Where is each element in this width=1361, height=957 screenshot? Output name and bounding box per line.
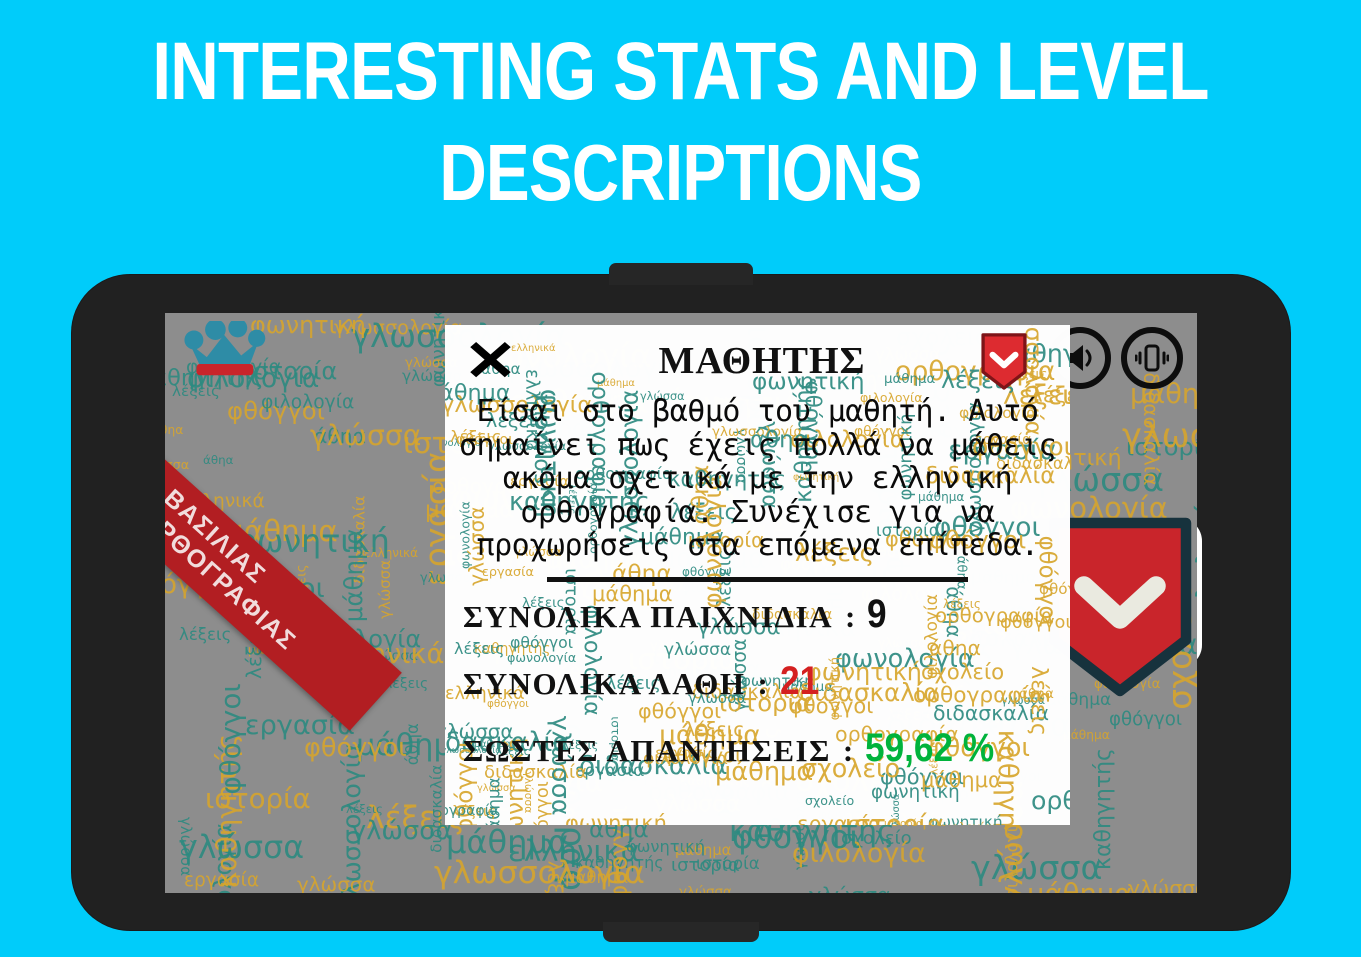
stat-row: ΣΥΝΟΛΙΚΑ ΛΑΘΗ:21 — [463, 659, 1052, 704]
word-cloud-word: άθηα — [165, 424, 183, 436]
word-cloud-word: φωνητική — [565, 813, 667, 825]
stat-label: ΣΥΝΟΛΙΚΑ ΛΑΘΗ — [463, 666, 746, 702]
dialog-description-line: ακόμα σχετικά με την ελληνική — [459, 462, 1056, 496]
word-cloud-word: λέξεις — [544, 861, 564, 893]
stat-colon: : — [758, 666, 768, 702]
word-cloud-word: λέξεις — [179, 627, 231, 644]
word-cloud-word: ιστορία — [671, 857, 740, 875]
word-cloud-word: γλωσσολογία — [434, 858, 645, 890]
phone-mockup: γλώσσαορθογραφίαγλώσσαάθηαιστορίαφωνητικ… — [72, 275, 1290, 930]
word-cloud-word: μάθημα — [1063, 729, 1110, 741]
header-title-line-1: INTERESTING STATS AND LEVEL — [122, 26, 1238, 118]
word-cloud-word: γλώσσα — [378, 560, 393, 619]
word-cloud-word: φιλολογία — [261, 394, 354, 413]
word-cloud-word: γλώσσα — [679, 886, 732, 893]
dialog-description-line: σημαίνει πως έχεις πολλά να μάθεις — [459, 429, 1056, 463]
dialog-header: ✕ ΜΑΘΗΤΗΣ — [457, 331, 1058, 391]
stat-colon: : — [843, 733, 853, 769]
stat-value: 59,62 % — [865, 726, 994, 771]
word-cloud-word: γλώσσα — [297, 875, 376, 893]
word-cloud-word: φωνητική — [250, 314, 366, 338]
header-title-line-2: DESCRIPTIONS — [122, 128, 1238, 218]
stat-label: ΣΩΣΤΕΣ ΑΠΑΝΤΗΣΕΙΣ — [463, 733, 831, 769]
page-header: INTERESTING STATS AND LEVEL DESCRIPTIONS — [0, 0, 1361, 250]
stat-row: ΣΩΣΤΕΣ ΑΠΑΝΤΗΣΕΙΣ:59,62 % — [463, 726, 1052, 771]
word-cloud-word: γλώσσα — [1128, 878, 1197, 893]
word-cloud-word: φθόγγοι — [534, 781, 552, 825]
stat-colon: : — [845, 599, 855, 635]
word-cloud-word: φθόγγοι — [217, 683, 245, 794]
word-cloud-word: άθηα — [203, 455, 234, 467]
word-cloud-word: σχολείο — [805, 795, 854, 808]
word-cloud-word: μάθημα — [446, 826, 569, 858]
word-cloud-word: γλώσσα — [310, 422, 421, 450]
stat-value: 21 — [780, 659, 819, 704]
word-cloud-word: μάθημα — [921, 769, 1002, 790]
crown-icon — [181, 321, 267, 383]
stat-value: 9 — [867, 592, 887, 637]
phone-top-notch — [609, 263, 753, 285]
word-cloud-word: γλώσσα — [809, 885, 891, 893]
level-info-dialog: φωνητικήιστορίαμάθημαιστορίαάθηαφθόγγοιγ… — [445, 325, 1070, 825]
word-cloud-word: ορθογραφία — [1031, 788, 1070, 813]
dialog-description-line: ορθογραφία. Συνέχισε για να — [459, 496, 1056, 530]
vibrate-icon — [1135, 343, 1169, 373]
stats-list: ΣΥΝΟΛΙΚΑ ΠΑΙΧΝΙΔΙΑ:9ΣΥΝΟΛΙΚΑ ΛΑΘΗ:21ΣΩΣΤ… — [457, 592, 1058, 771]
word-cloud-word: ιστορία — [845, 812, 944, 825]
dialog-divider — [547, 577, 968, 582]
word-cloud-word: μάθημα — [342, 528, 367, 622]
word-cloud-word: φθόγγοι — [304, 736, 407, 762]
dialog-description-line: προχωρήσεις στα επόμενα επίπεδα. — [459, 529, 1056, 563]
stat-label: ΣΥΝΟΛΙΚΑ ΠΑΙΧΝΙΔΙΑ — [463, 599, 833, 635]
phone-bottom-notch — [603, 922, 759, 942]
dialog-description-line: Είσαι στο βαθμό του μαθητή. Αυτό — [459, 395, 1056, 429]
shield-chevron-icon — [980, 332, 1028, 390]
word-cloud-word: λέξεις — [346, 804, 383, 816]
vibrate-toggle-button[interactable] — [1121, 327, 1183, 389]
stat-row: ΣΥΝΟΛΙΚΑ ΠΑΙΧΝΙΔΙΑ:9 — [463, 592, 1052, 637]
word-cloud-word: φθόγγοι — [1109, 711, 1182, 729]
word-cloud-word: γλώσσα — [179, 833, 304, 865]
phone-screen: γλώσσαορθογραφίαγλώσσαάθηαιστορίαφωνητικ… — [165, 313, 1197, 893]
dialog-title: ΜΑΘΗΤΗΣ — [544, 339, 980, 383]
close-icon[interactable]: ✕ — [463, 339, 517, 384]
dialog-description: Είσαι στο βαθμό του μαθητή. Αυτόσημαίνει… — [457, 391, 1058, 563]
word-cloud-word: διδασκαλία — [429, 765, 445, 853]
word-cloud-word: ορθογραφία — [445, 804, 499, 818]
word-cloud-word: μάθημα — [1027, 881, 1133, 893]
